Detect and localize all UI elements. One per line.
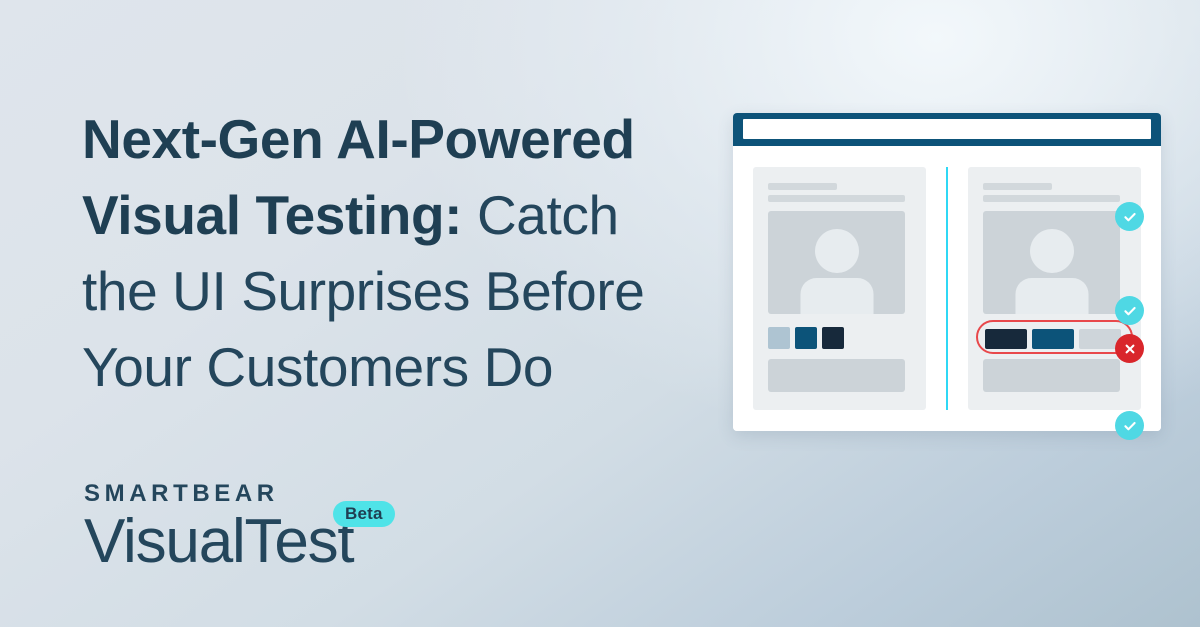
avatar-head-icon [815, 229, 859, 273]
swatch-3 [822, 327, 844, 349]
error-x-icon [1115, 334, 1144, 363]
brand-wordmark: SMARTBEAR [84, 482, 504, 506]
page-title: Next-Gen AI-Powered Visual Testing: Catc… [82, 101, 682, 405]
swatch-1 [985, 329, 1027, 349]
placeholder-footer-block [983, 359, 1120, 392]
baseline-panel [753, 167, 926, 410]
placeholder-image [983, 211, 1120, 314]
check-icon [1115, 202, 1144, 231]
promo-banner: Next-Gen AI-Powered Visual Testing: Catc… [0, 0, 1200, 627]
placeholder-subtitle-bar [983, 195, 1120, 202]
logo: SMARTBEAR VisualTest Beta [84, 482, 504, 574]
avatar-body-icon [1015, 278, 1088, 314]
avatar-body-icon [800, 278, 873, 314]
placeholder-image [768, 211, 905, 314]
browser-chrome-bar [733, 113, 1161, 146]
swatch-1 [768, 327, 790, 349]
check-icon [1115, 296, 1144, 325]
avatar-head-icon [1030, 229, 1074, 273]
browser-viewport [733, 146, 1161, 431]
placeholder-footer-block [768, 359, 905, 392]
browser-mockup [733, 113, 1161, 431]
placeholder-subtitle-bar [768, 195, 905, 202]
placeholder-title-bar [768, 183, 837, 190]
diff-highlight-region [976, 320, 1133, 354]
address-bar [743, 119, 1151, 139]
beta-badge: Beta [333, 501, 395, 527]
swatch-2 [1032, 329, 1074, 349]
comparison-panel [968, 167, 1141, 410]
product-logo-row: VisualTest Beta [84, 509, 353, 574]
content-column: Next-Gen AI-Powered Visual Testing: Catc… [82, 0, 682, 627]
comparison-divider [946, 167, 948, 410]
swatch-2 [795, 327, 817, 349]
product-wordmark: VisualTest [84, 509, 353, 574]
placeholder-title-bar [983, 183, 1052, 190]
check-icon [1115, 411, 1144, 440]
